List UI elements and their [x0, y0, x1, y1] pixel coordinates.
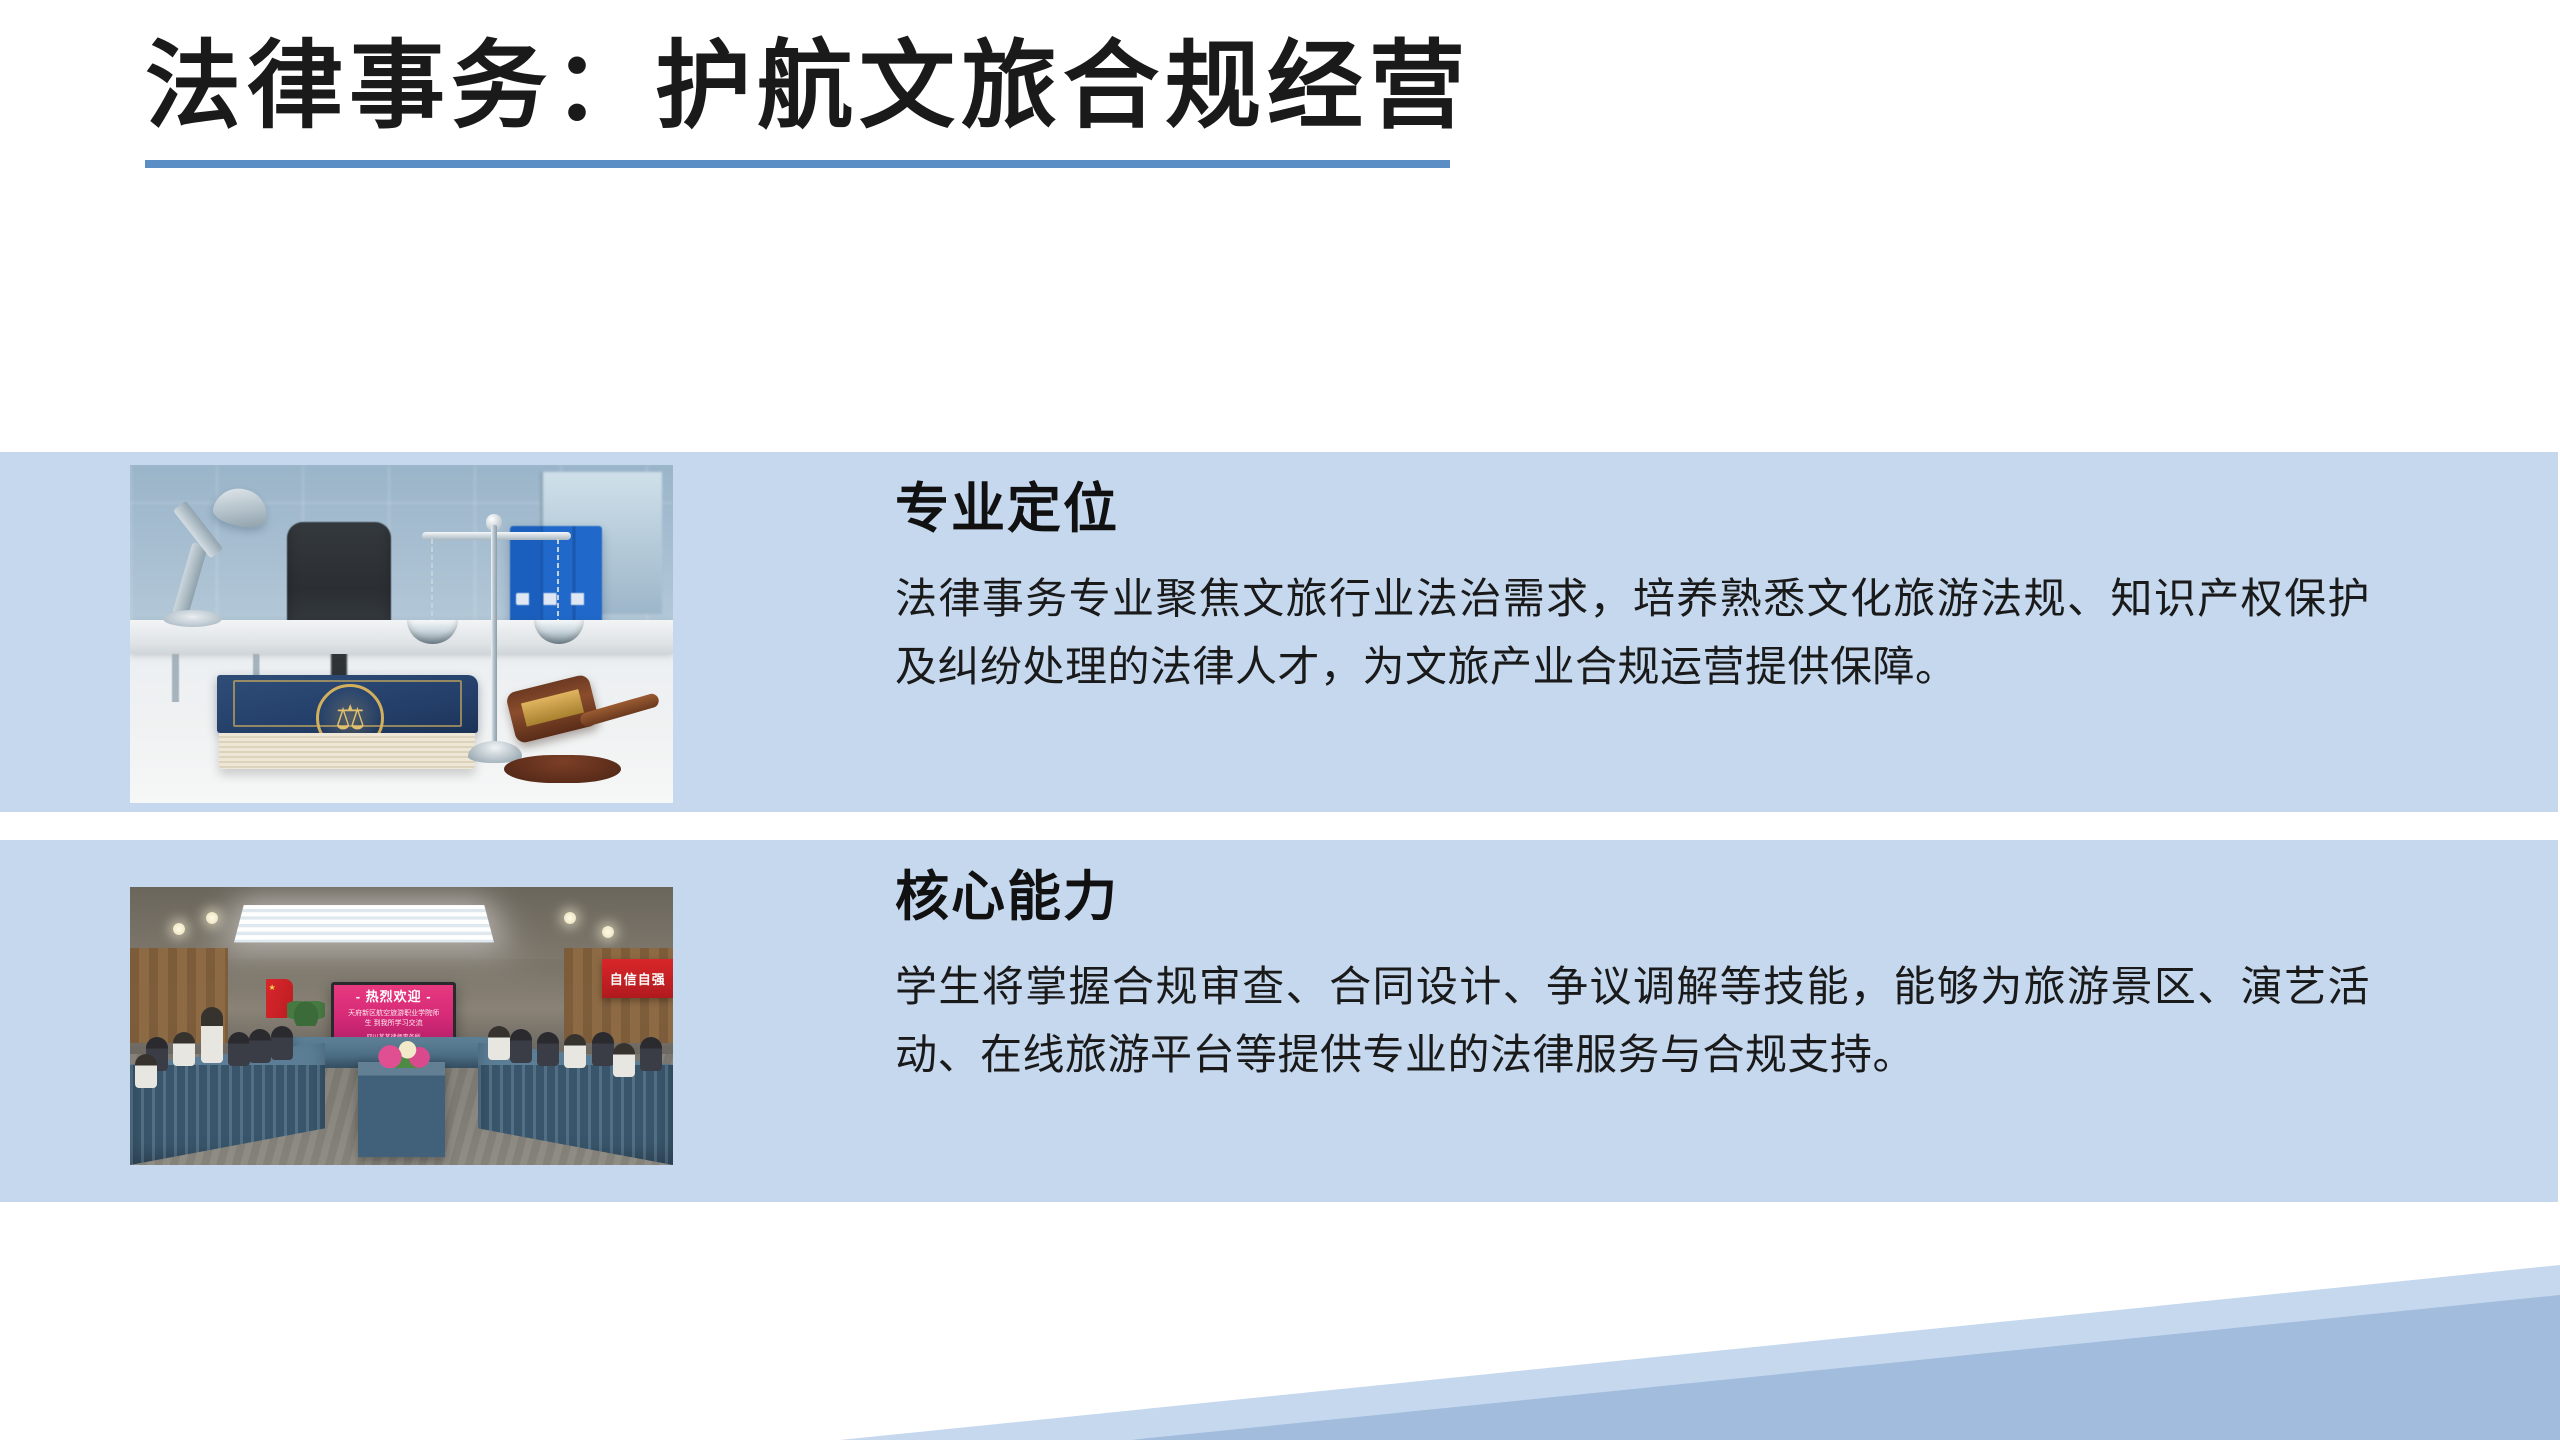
- person-seated: [592, 1032, 614, 1066]
- person-seated: [510, 1029, 532, 1063]
- card-2-body: 核心能力 学生将掌握合规审查、合同设计、争议调解等技能，能够为旅游景区、演艺活动…: [895, 840, 2370, 1089]
- deco-band-light: [840, 1265, 2560, 1440]
- person-seated: [228, 1032, 250, 1066]
- gavel-sound-block: [504, 755, 621, 783]
- deco-band-dark: [1130, 1295, 2560, 1440]
- title-underline-rule: [145, 160, 1450, 168]
- scales-pan-right: [534, 620, 584, 644]
- content-card-1: 专业定位 法律事务专业聚焦文旅行业法治需求，培养熟悉文化旅游法规、知识产权保护及…: [0, 452, 2558, 812]
- page-title: 法律事务：护航文旅合规经营: [145, 30, 1645, 143]
- person-seated: [249, 1029, 271, 1063]
- attendees-group: [130, 887, 673, 1165]
- desk: [130, 620, 673, 654]
- person-seated: [564, 1034, 586, 1068]
- title-block: 法律事务：护航文旅合规经营: [145, 30, 1645, 143]
- card-2-text: 学生将掌握合规审查、合同设计、争议调解等技能，能够为旅游景区、演艺活动、在线旅游…: [895, 953, 2370, 1089]
- content-card-2: 自信自强 - 热烈欢迎 - 天府新区航空旅游职业学院师生 到我所学习交流 四川某…: [0, 840, 2558, 1202]
- gavel-icon: [494, 675, 657, 783]
- scales-chain-left: [431, 539, 433, 626]
- person-seated: [173, 1032, 195, 1066]
- card-1-heading: 专业定位: [895, 480, 2370, 539]
- law-office-illustration: [130, 465, 673, 803]
- conference-room-illustration: 自信自强 - 热烈欢迎 - 天府新区航空旅游职业学院师生 到我所学习交流 四川某…: [130, 887, 673, 1165]
- person-standing: [201, 1007, 223, 1063]
- person-seated: [640, 1037, 662, 1071]
- person-seated: [271, 1026, 293, 1060]
- card-2-heading: 核心能力: [895, 868, 2370, 927]
- card-1-text: 法律事务专业聚焦文旅行业法治需求，培养熟悉文化旅游法规、知识产权保护及纠纷处理的…: [895, 565, 2370, 701]
- bottom-decoration: [0, 1180, 2560, 1440]
- person-seated: [488, 1026, 510, 1060]
- person-seated: [537, 1032, 559, 1066]
- person-seated: [613, 1043, 635, 1077]
- person-seated: [135, 1054, 157, 1088]
- card-2-image: 自信自强 - 热烈欢迎 - 天府新区航空旅游职业学院师生 到我所学习交流 四川某…: [130, 887, 673, 1165]
- card-1-image: [130, 465, 673, 803]
- scales-chain-right: [557, 539, 559, 626]
- card-1-body: 专业定位 法律事务专业聚焦文旅行业法治需求，培养熟悉文化旅游法规、知识产权保护及…: [895, 452, 2370, 701]
- slide-root: 法律事务：护航文旅合规经营: [0, 0, 2560, 1440]
- scales-pan-left: [407, 620, 457, 644]
